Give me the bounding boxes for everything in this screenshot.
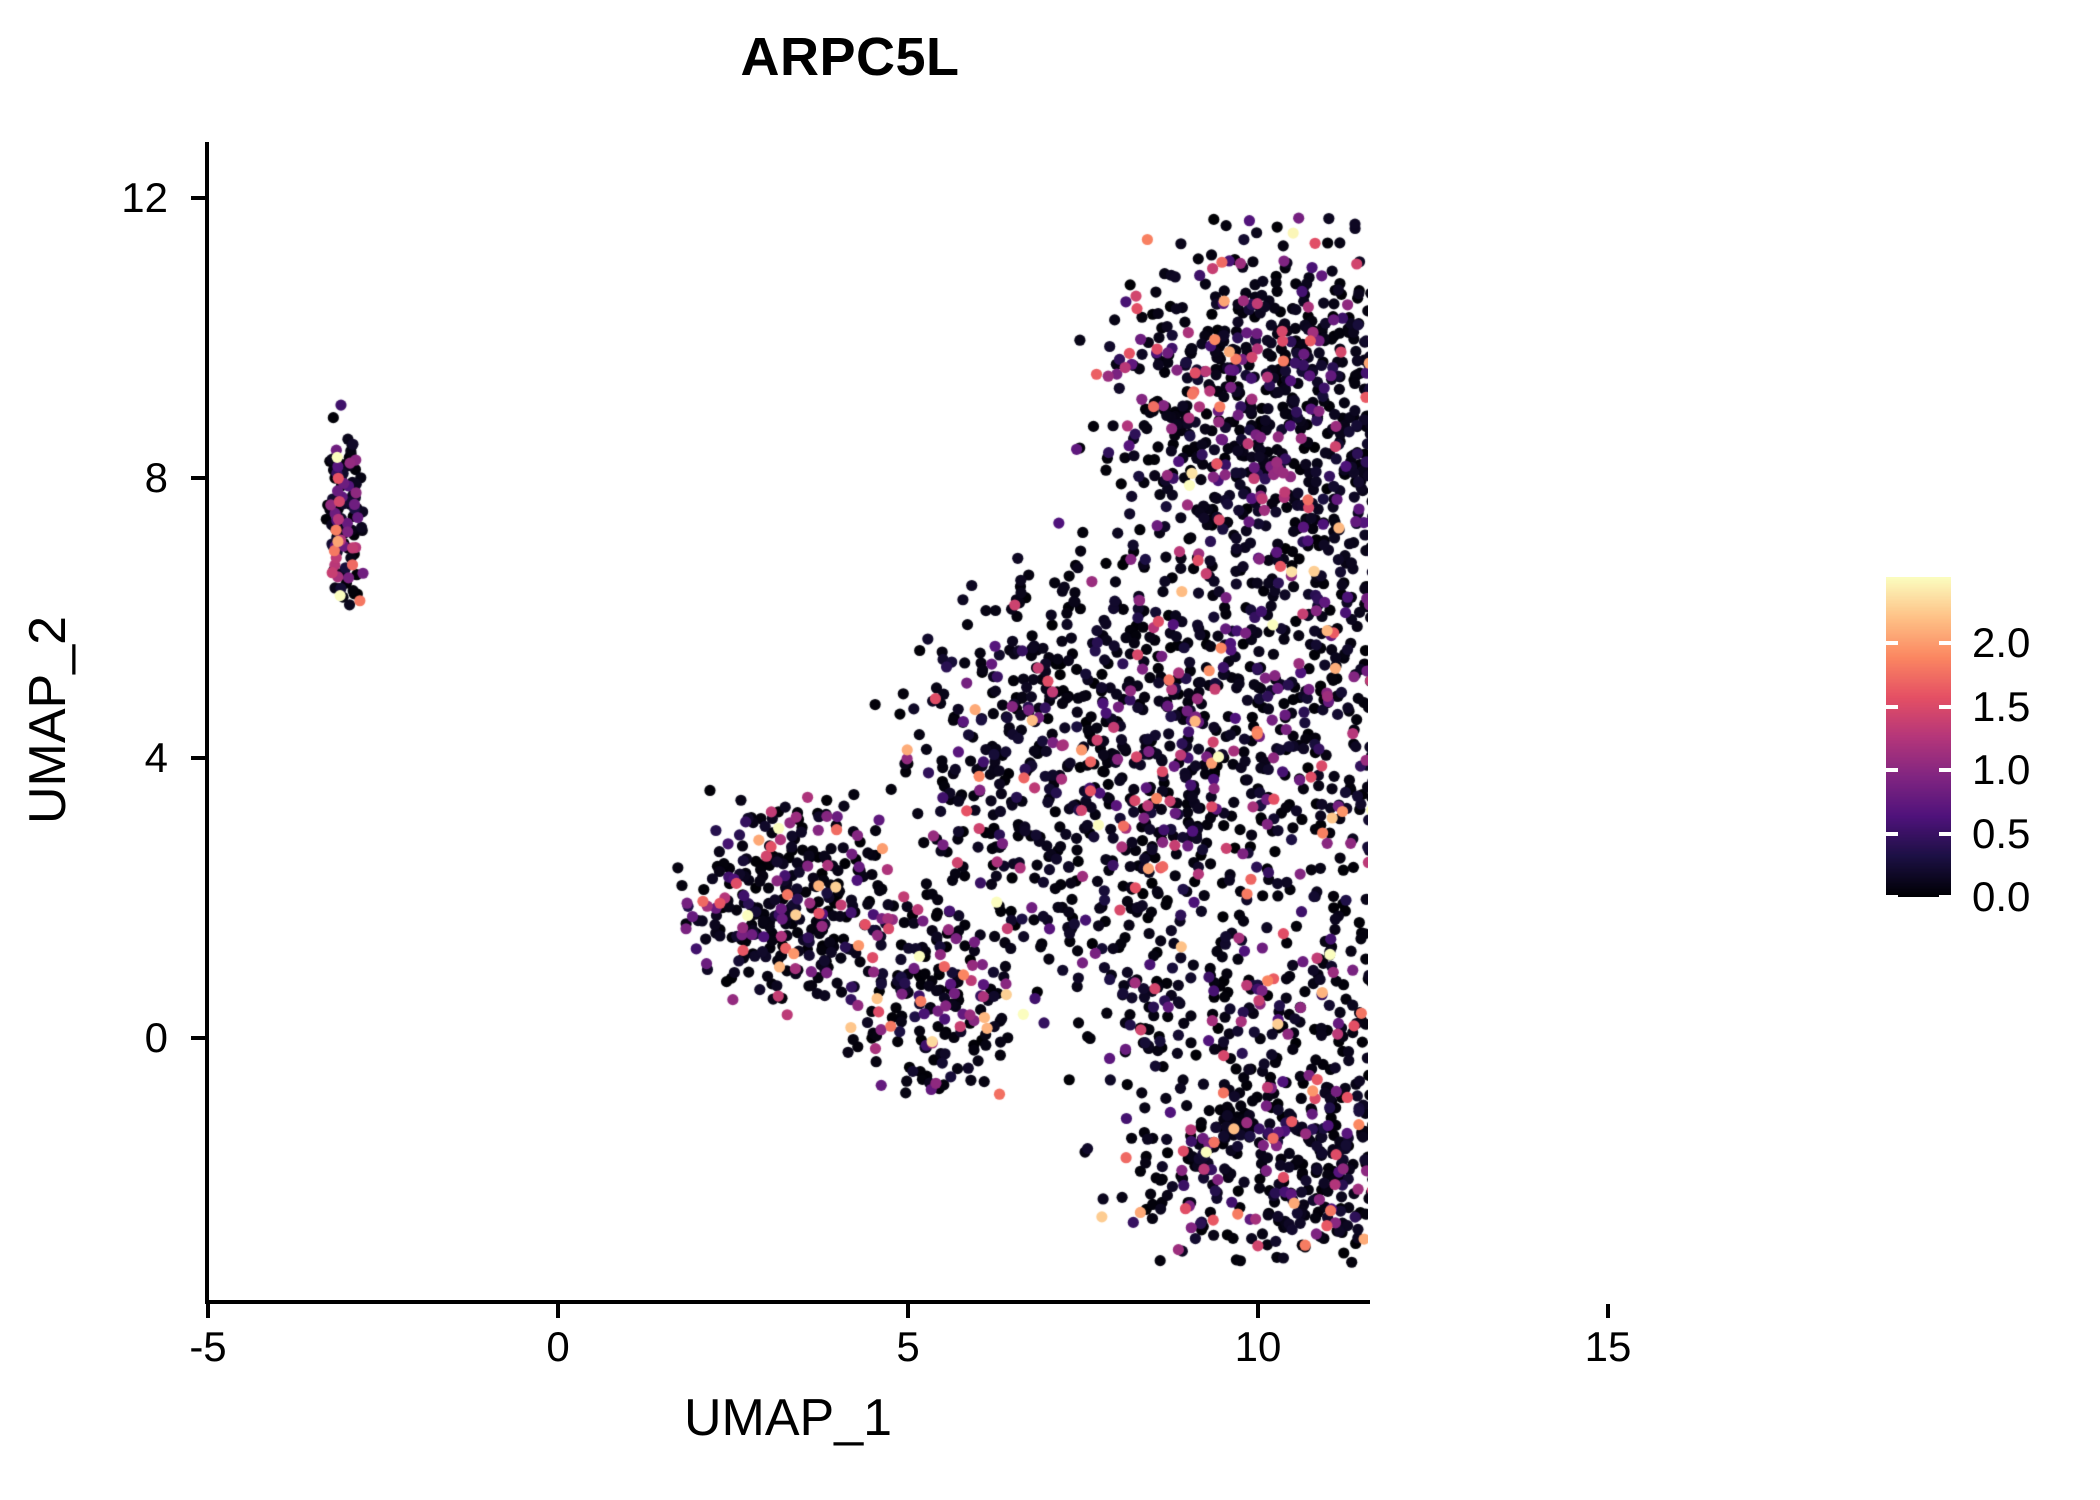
colorbar-tick-mark — [1886, 768, 1898, 772]
colorbar-tick-label: 2.0 — [1972, 622, 2092, 664]
colorbar-tick-mark — [1939, 641, 1951, 645]
x-tick-label: 10 — [1198, 1326, 1318, 1368]
x-tick-mark — [556, 1304, 560, 1318]
y-tick-mark — [191, 1036, 205, 1040]
umap-feature-plot: ARPC5L 04812 -5051015 UMAP_1 UMAP_2 2.01… — [0, 0, 2100, 1500]
y-tick-label: 8 — [84, 457, 168, 499]
x-tick-label: 5 — [848, 1326, 968, 1368]
x-tick-label: 15 — [1548, 1326, 1668, 1368]
colorbar-tick-mark — [1939, 895, 1951, 899]
x-tick-mark — [906, 1304, 910, 1318]
y-tick-label: 4 — [84, 737, 168, 779]
colorbar-tick-mark — [1939, 768, 1951, 772]
y-axis-title: UMAP_2 — [18, 440, 78, 1000]
colorbar-tick-label: 0.5 — [1972, 813, 2092, 855]
y-tick-label: 0 — [84, 1017, 168, 1059]
color-legend: 2.01.51.00.50.0 — [1886, 577, 2086, 907]
colorbar-tick-mark — [1886, 895, 1898, 899]
colorbar-tick-label: 1.5 — [1972, 686, 2092, 728]
colorbar-gradient — [1886, 577, 1951, 897]
colorbar-tick-label: 1.0 — [1972, 749, 2092, 791]
page-title: ARPC5L — [0, 26, 1700, 88]
scatter-canvas — [208, 142, 1368, 1302]
x-axis-line — [205, 1300, 1370, 1304]
y-axis-line — [205, 142, 209, 1304]
colorbar-tick-label: 0.0 — [1972, 876, 2092, 918]
plot-panel — [208, 142, 1368, 1302]
y-tick-mark — [191, 196, 205, 200]
colorbar-tick-mark — [1939, 705, 1951, 709]
colorbar-tick-mark — [1886, 832, 1898, 836]
x-tick-mark — [1606, 1304, 1610, 1318]
x-tick-label: -5 — [148, 1326, 268, 1368]
x-axis-title: UMAP_1 — [508, 1388, 1068, 1448]
x-tick-mark — [1256, 1304, 1260, 1318]
colorbar-tick-mark — [1886, 641, 1898, 645]
colorbar-tick-mark — [1939, 832, 1951, 836]
y-tick-label: 12 — [84, 177, 168, 219]
y-tick-mark — [191, 756, 205, 760]
x-tick-mark — [206, 1304, 210, 1318]
colorbar-tick-mark — [1886, 705, 1898, 709]
x-tick-label: 0 — [498, 1326, 618, 1368]
y-tick-mark — [191, 476, 205, 480]
